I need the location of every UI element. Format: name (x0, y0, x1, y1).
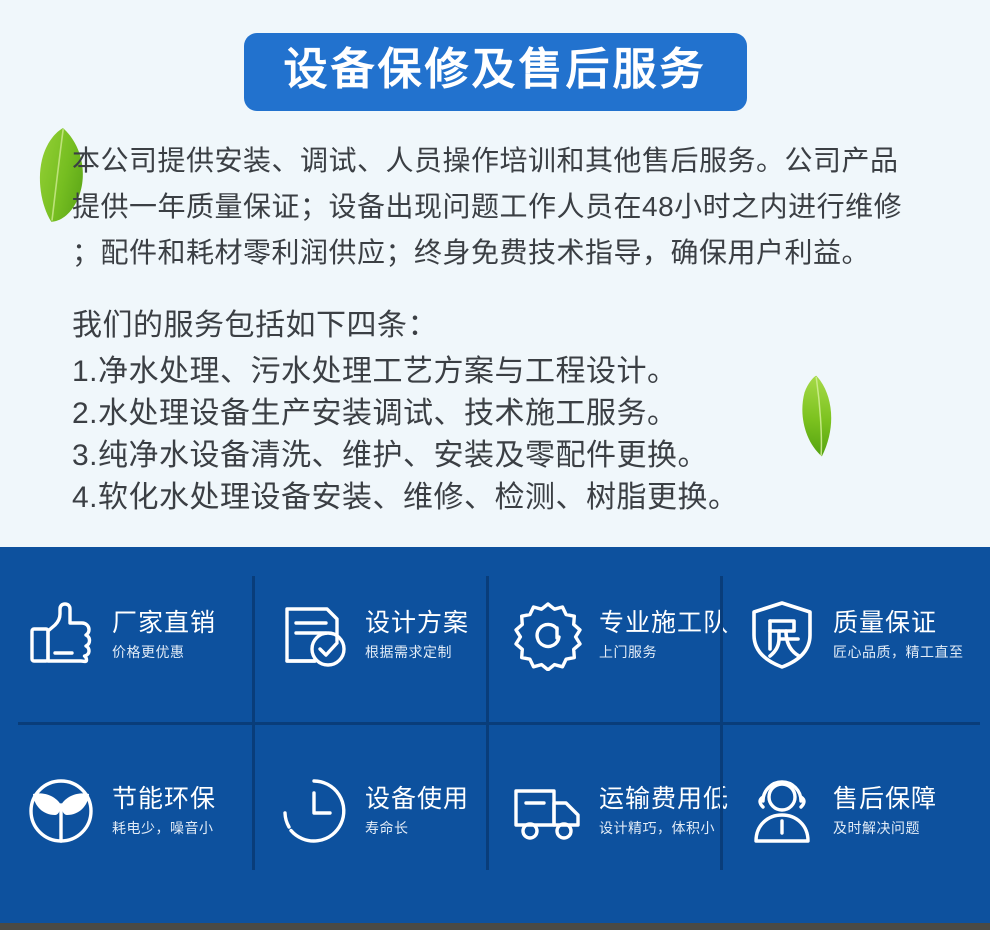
feature-text-shipping: 运输费用低 设计精巧，体积小 (599, 784, 729, 838)
promo-page: 设备保修及售后服务 本公司提供安装、调试、人员操作培训和其他售后服务。公司产品 … (0, 0, 990, 930)
grid-divider-horizontal (18, 722, 980, 725)
feature-text-design-plan: 设计方案 根据需求定制 (365, 608, 469, 662)
feature-subtitle: 匠心品质，精工直至 (833, 642, 964, 662)
feature-subtitle: 及时解决问题 (833, 818, 937, 838)
intro-line-2: 提供一年质量保证；设备出现问题工作人员在48小时之内进行维修 (72, 184, 952, 230)
service-list-items: 1.净水处理、污水处理工艺方案与工程设计。 2.水处理设备生产安装调试、技术施工… (72, 351, 952, 519)
feature-subtitle: 价格更优惠 (112, 642, 216, 662)
feature-text-after-sales: 售后保障 及时解决问题 (833, 784, 937, 838)
feature-cell-design-plan[interactable]: 设计方案 根据需求定制 (253, 547, 487, 723)
headset-support-icon (743, 772, 821, 850)
clock-icon (275, 772, 353, 850)
feature-cell-after-sales[interactable]: 售后保障 及时解决问题 (721, 723, 990, 899)
service-list-lead: 我们的服务包括如下四条： (72, 305, 952, 347)
gear-icon (509, 596, 587, 674)
feature-title: 运输费用低 (599, 784, 729, 814)
intro-line-1: 本公司提供安装、调试、人员操作培训和其他售后服务。公司产品 (72, 138, 952, 184)
service-item-1: 1.净水处理、污水处理工艺方案与工程设计。 (72, 351, 952, 393)
service-item-2: 2.水处理设备生产安装调试、技术施工服务。 (72, 393, 952, 435)
feature-title: 设计方案 (365, 608, 469, 638)
intro-paragraph: 本公司提供安装、调试、人员操作培训和其他售后服务。公司产品 提供一年质量保证；设… (72, 138, 952, 276)
feature-text-eco: 节能环保 耗电少，噪音小 (112, 784, 216, 838)
truck-icon (509, 772, 587, 850)
thumbs-up-icon (22, 596, 100, 674)
eco-leaf-circle-icon (22, 772, 100, 850)
feature-text-factory-direct: 厂家直销 价格更优惠 (112, 608, 216, 662)
feature-title: 专业施工队 (599, 608, 729, 638)
feature-subtitle: 耗电少，噪音小 (112, 818, 216, 838)
feature-cell-quality[interactable]: 质量保证 匠心品质，精工直至 (721, 547, 990, 723)
feature-title: 设备使用 (365, 784, 469, 814)
title-banner-wrap: 设备保修及售后服务 (0, 33, 990, 111)
feature-subtitle: 寿命长 (365, 818, 469, 838)
service-item-4: 4.软化水处理设备安装、维修、检测、树脂更换。 (72, 477, 952, 519)
intro-line-3: ；配件和耗材零利润供应；终身免费技术指导，确保用户利益。 (72, 230, 952, 276)
feature-cell-pro-team[interactable]: 专业施工队 上门服务 (487, 547, 721, 723)
feature-panel: 厂家直销 价格更优惠 设计方案 (0, 547, 990, 923)
feature-text-quality: 质量保证 匠心品质，精工直至 (833, 608, 964, 662)
feature-subtitle: 根据需求定制 (365, 642, 469, 662)
feature-title: 厂家直销 (112, 608, 216, 638)
document-check-icon (275, 596, 353, 674)
quality-shield-icon (743, 596, 821, 674)
feature-title: 售后保障 (833, 784, 937, 814)
feature-title: 质量保证 (833, 608, 964, 638)
feature-cell-eco[interactable]: 节能环保 耗电少，噪音小 (0, 723, 253, 899)
service-list: 我们的服务包括如下四条： 1.净水处理、污水处理工艺方案与工程设计。 2.水处理… (72, 305, 952, 519)
feature-subtitle: 上门服务 (599, 642, 729, 662)
feature-cell-factory-direct[interactable]: 厂家直销 价格更优惠 (0, 547, 253, 723)
service-item-3: 3.纯净水设备清洗、维护、安装及零配件更换。 (72, 435, 952, 477)
feature-cell-shipping[interactable]: 运输费用低 设计精巧，体积小 (487, 723, 721, 899)
feature-text-pro-team: 专业施工队 上门服务 (599, 608, 729, 662)
feature-subtitle: 设计精巧，体积小 (599, 818, 729, 838)
footer-strip (0, 923, 990, 930)
feature-cell-lifespan[interactable]: 设备使用 寿命长 (253, 723, 487, 899)
feature-title: 节能环保 (112, 784, 216, 814)
feature-text-lifespan: 设备使用 寿命长 (365, 784, 469, 838)
page-title: 设备保修及售后服务 (244, 33, 747, 111)
